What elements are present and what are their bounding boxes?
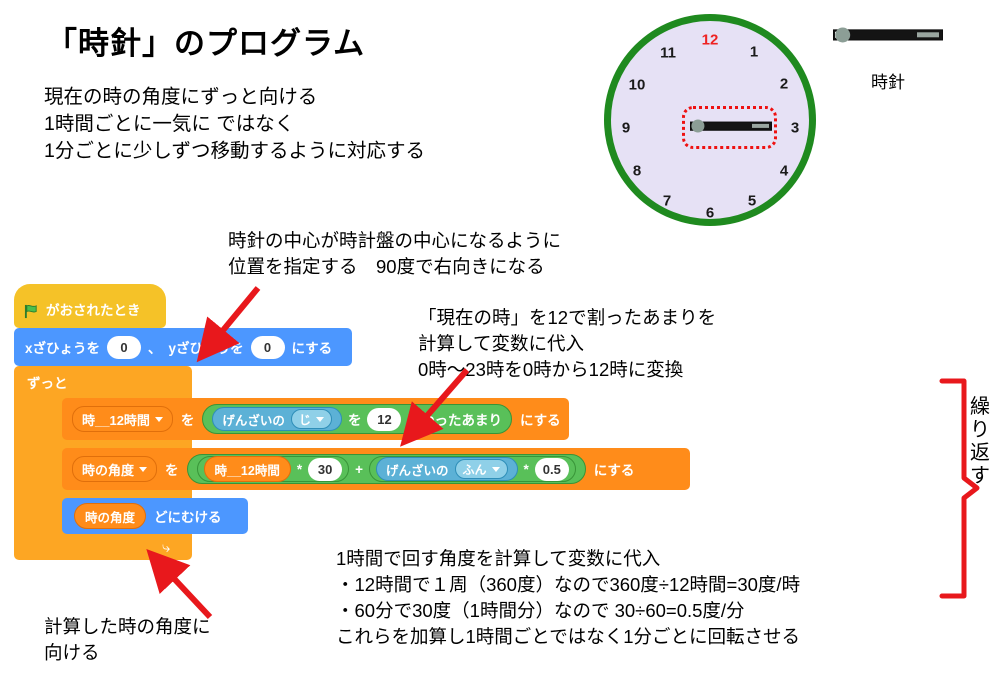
- multiply-sign: *: [524, 462, 529, 477]
- sensing-dropdown-unit[interactable]: ふん: [455, 459, 508, 479]
- label-wo: を: [165, 459, 179, 479]
- separator: 、: [148, 337, 162, 357]
- variable-name: 時__12時間: [82, 410, 150, 429]
- input-divisor[interactable]: 12: [367, 408, 401, 431]
- sensing-label: げんざいの: [222, 410, 285, 429]
- plus-sign: +: [355, 462, 363, 477]
- clock-number-7: 7: [663, 193, 671, 210]
- clock-number-11: 11: [660, 45, 676, 62]
- clock-number-5: 5: [748, 193, 756, 210]
- note-repeat: 繰り返す: [968, 396, 992, 488]
- sensing-label: げんざいの: [386, 460, 449, 479]
- clock-number-12: 12: [702, 32, 719, 49]
- scratch-script: がおされたとき xざひょうを 0 、 yざひょうを 0 にする ずっと 時__1…: [14, 284, 352, 560]
- arrow-to-point: [166, 570, 210, 617]
- block-set-variable-angle[interactable]: 時の角度 を 時__12時間 * 30 + げんざいの: [62, 448, 690, 490]
- hand-pivot-icon: [836, 28, 851, 43]
- block-point-in-direction[interactable]: 時の角度 どにむける: [62, 498, 248, 534]
- sensing-option: ふん: [463, 461, 487, 478]
- sensing-current-hour[interactable]: げんざいの じ: [212, 407, 342, 431]
- clock-number-6: 6: [706, 205, 714, 222]
- forever-label: ずっと: [14, 366, 192, 398]
- clock-number-9: 9: [622, 120, 630, 137]
- multiply-sign: *: [297, 462, 302, 477]
- sensing-current-minute[interactable]: げんざいの ふん: [376, 457, 518, 481]
- block-forever[interactable]: ずっと 時__12時間 を げんざいの じ を: [14, 366, 192, 560]
- page-title: 「時針」のプログラム: [46, 18, 365, 63]
- label-wo-mid: を: [348, 409, 362, 429]
- block-set-xy[interactable]: xざひょうを 0 、 yざひょうを 0 にする: [14, 328, 352, 366]
- chevron-down-icon: [139, 467, 147, 472]
- chevron-down-icon: [316, 417, 324, 422]
- clock-number-4: 4: [780, 163, 788, 180]
- clock-number-1: 1: [750, 44, 758, 61]
- chevron-down-icon: [155, 417, 163, 422]
- variable-name: 時の角度: [82, 460, 134, 479]
- suffix-nisuru: にする: [292, 337, 333, 357]
- input-degrees-per-minute[interactable]: 0.5: [535, 458, 569, 481]
- clock-stage[interactable]: 12 1 2 3 4 5 6 7 8 9 10 11: [604, 14, 816, 226]
- suffix-nisuru: にする: [520, 409, 561, 429]
- note-direction: 計算した時の角度に 向ける: [44, 614, 211, 666]
- variable-reporter-angle[interactable]: 時の角度: [74, 503, 146, 529]
- point-label: どにむける: [154, 506, 222, 526]
- sprite-thumbnail[interactable]: [833, 26, 943, 44]
- suffix-nisuru: にする: [594, 459, 635, 479]
- sensing-option: じ: [299, 411, 311, 428]
- forever-loop-arrow: ⤷: [14, 534, 192, 560]
- note-modulo: 「現在の時」を12で割ったあまりを 計算して変数に代入 0時〜23時を0時から1…: [418, 305, 716, 383]
- note-angle: 1時間で回す角度を計算して変数に代入 ・12時間で１周（360度）なので360度…: [336, 546, 800, 650]
- clock-number-10: 10: [629, 77, 646, 94]
- hand-pivot-icon: [692, 120, 705, 133]
- chevron-down-icon: [492, 467, 500, 472]
- block-set-variable-hour12[interactable]: 時__12時間 を げんざいの じ を 12 でわったあまり: [62, 398, 569, 440]
- label-wo: を: [181, 409, 195, 429]
- loop-arrow-icon: ⤷: [162, 539, 170, 556]
- input-y[interactable]: 0: [251, 336, 285, 359]
- hand-tip-right-icon: [752, 124, 768, 128]
- input-degrees-per-hour[interactable]: 30: [308, 458, 342, 481]
- hat-label: がおされたとき: [46, 299, 141, 319]
- operator-modulo[interactable]: げんざいの じ を 12 でわったあまり: [202, 404, 512, 434]
- label-y: yざひょうを: [169, 337, 244, 357]
- clock-number-8: 8: [633, 163, 641, 180]
- variable-reporter-hour12[interactable]: 時__12時間: [204, 456, 291, 482]
- note-position: 時針の中心が時計盤の中心になるように 位置を指定する 90度で右向きになる: [228, 228, 561, 280]
- variable-dropdown-angle[interactable]: 時の角度: [72, 456, 157, 482]
- operator-add[interactable]: 時__12時間 * 30 + げんざいの ふん *: [187, 454, 586, 484]
- input-x[interactable]: 0: [107, 336, 141, 359]
- label-x: xざひょうを: [25, 337, 100, 357]
- hour-hand-sprite[interactable]: [690, 119, 772, 133]
- variable-dropdown-hour12[interactable]: 時__12時間: [72, 406, 173, 432]
- forever-body: 時__12時間 を げんざいの じ を 12 でわったあまり: [29, 398, 192, 534]
- clock-number-3: 3: [791, 120, 799, 137]
- operator-multiply-hours[interactable]: 時__12時間 * 30: [197, 456, 350, 482]
- hand-tip-right-icon: [917, 32, 939, 37]
- sensing-dropdown-unit[interactable]: じ: [291, 409, 332, 429]
- intro-text: 現在の時の角度にずっと向ける 1時間ごとに一気に ではなく 1分ごとに少しずつ移…: [44, 84, 425, 165]
- clock-number-2: 2: [780, 76, 788, 93]
- green-flag-icon: [24, 304, 39, 319]
- label-remainder: でわったあまり: [407, 409, 502, 429]
- operator-multiply-minutes[interactable]: げんざいの ふん * 0.5: [369, 456, 576, 482]
- block-when-flag-clicked[interactable]: がおされたとき: [14, 284, 166, 328]
- sprite-label: 時針: [833, 68, 943, 93]
